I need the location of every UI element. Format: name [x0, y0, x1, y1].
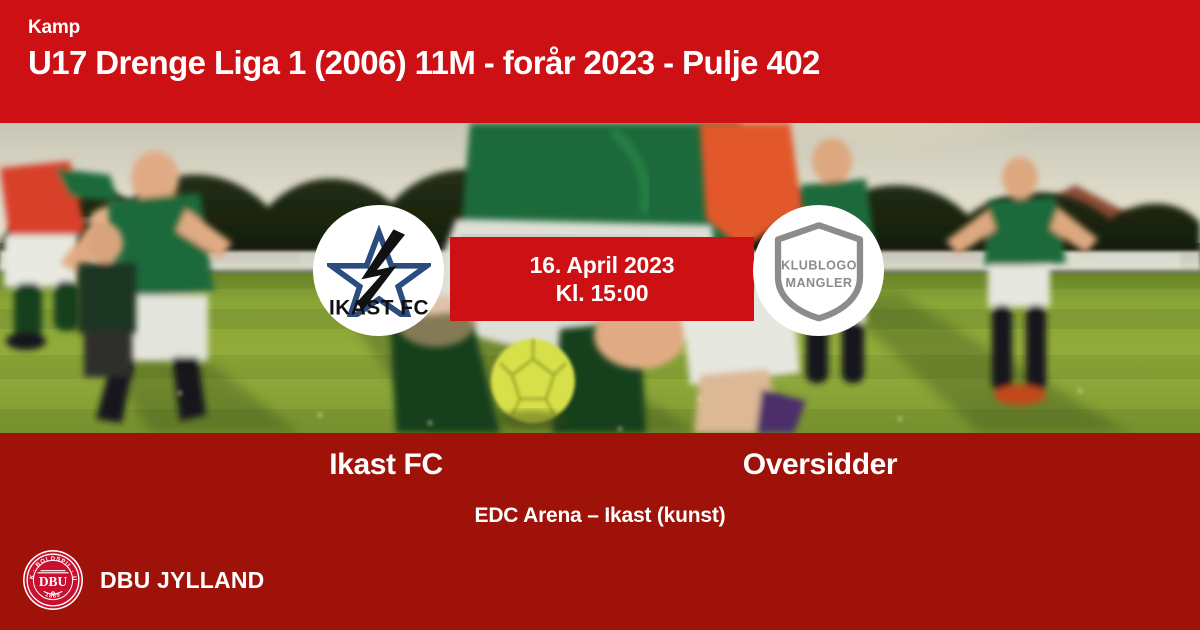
team-names-row: Ikast FC Oversidder: [0, 447, 1200, 493]
header-kicker: Kamp: [28, 18, 1200, 37]
match-poster: Kamp U17 Drenge Liga 1 (2006) 11M - forå…: [0, 0, 1200, 630]
shield-placeholder-icon: KLUBLOGO MANGLER: [771, 219, 867, 323]
home-club-crest: IKAST FC: [313, 205, 444, 336]
home-team-name: Ikast FC: [186, 447, 586, 483]
match-datetime-ribbon: 16. April 2023 Kl. 15:00: [450, 237, 754, 321]
away-crest-line1: KLUBLOGO: [781, 258, 857, 272]
dbu-badge-icon: DANSK · BOLDSPIL · UNION 1889 DBU: [22, 549, 84, 611]
ikast-fc-logo-icon: IKAST FC: [327, 225, 431, 317]
dbu-monogram: DBU: [39, 574, 68, 589]
match-date: 16. April 2023: [530, 251, 675, 279]
page-title: U17 Drenge Liga 1 (2006) 11M - forår 202…: [28, 46, 1200, 81]
poster-header: Kamp U17 Drenge Liga 1 (2006) 11M - forå…: [0, 0, 1200, 123]
organization-name: DBU JYLLAND: [100, 569, 264, 592]
organization-footer: DANSK · BOLDSPIL · UNION 1889 DBU DBU JY…: [22, 545, 264, 615]
away-crest-line2: MANGLER: [785, 275, 852, 289]
match-time: Kl. 15:00: [556, 279, 649, 307]
ikast-fc-wordmark: IKAST FC: [328, 296, 428, 316]
away-club-crest: KLUBLOGO MANGLER: [753, 205, 884, 336]
away-team-name: Oversidder: [620, 447, 1020, 483]
venue-name: EDC Arena – Ikast (kunst): [0, 503, 1200, 528]
